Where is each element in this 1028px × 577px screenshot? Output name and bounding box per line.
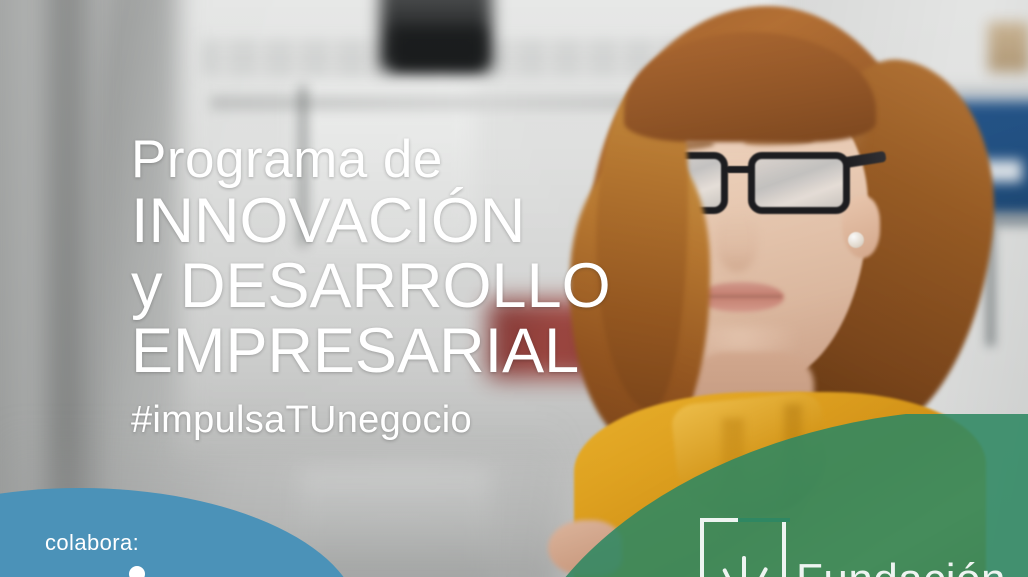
nose xyxy=(716,212,758,272)
plant-stem xyxy=(742,556,746,577)
headline-line-2: INNOVACIÓN xyxy=(131,190,611,253)
bracket-plant-icon xyxy=(700,518,786,577)
logo-wordmark: Fundación xyxy=(796,558,1006,577)
lip-line xyxy=(700,295,782,298)
dark-binder-spine xyxy=(392,28,484,70)
fundacion-logo: Fundación xyxy=(700,518,1006,577)
glasses-bridge xyxy=(726,166,752,173)
plant-icon xyxy=(712,540,774,577)
headline-line-1: Programa de xyxy=(131,133,611,186)
pearl-earring xyxy=(848,232,864,248)
headline-block: Programa de INNOVACIÓN y DESARROLLO EMPR… xyxy=(131,133,611,439)
hand xyxy=(548,520,622,576)
plant-stem xyxy=(742,567,768,577)
headline-line-3: y DESARROLLO xyxy=(131,255,611,318)
campaign-hashtag: #impulsaTUnegocio xyxy=(131,401,611,439)
colabora-label: colabora: xyxy=(45,530,139,556)
lens-right xyxy=(748,152,850,214)
partner-logo-dot xyxy=(129,566,145,577)
headline-line-4: EMPRESARIAL xyxy=(131,320,611,383)
promotional-poster: Programa de INNOVACIÓN y DESARROLLO EMPR… xyxy=(0,0,1028,577)
